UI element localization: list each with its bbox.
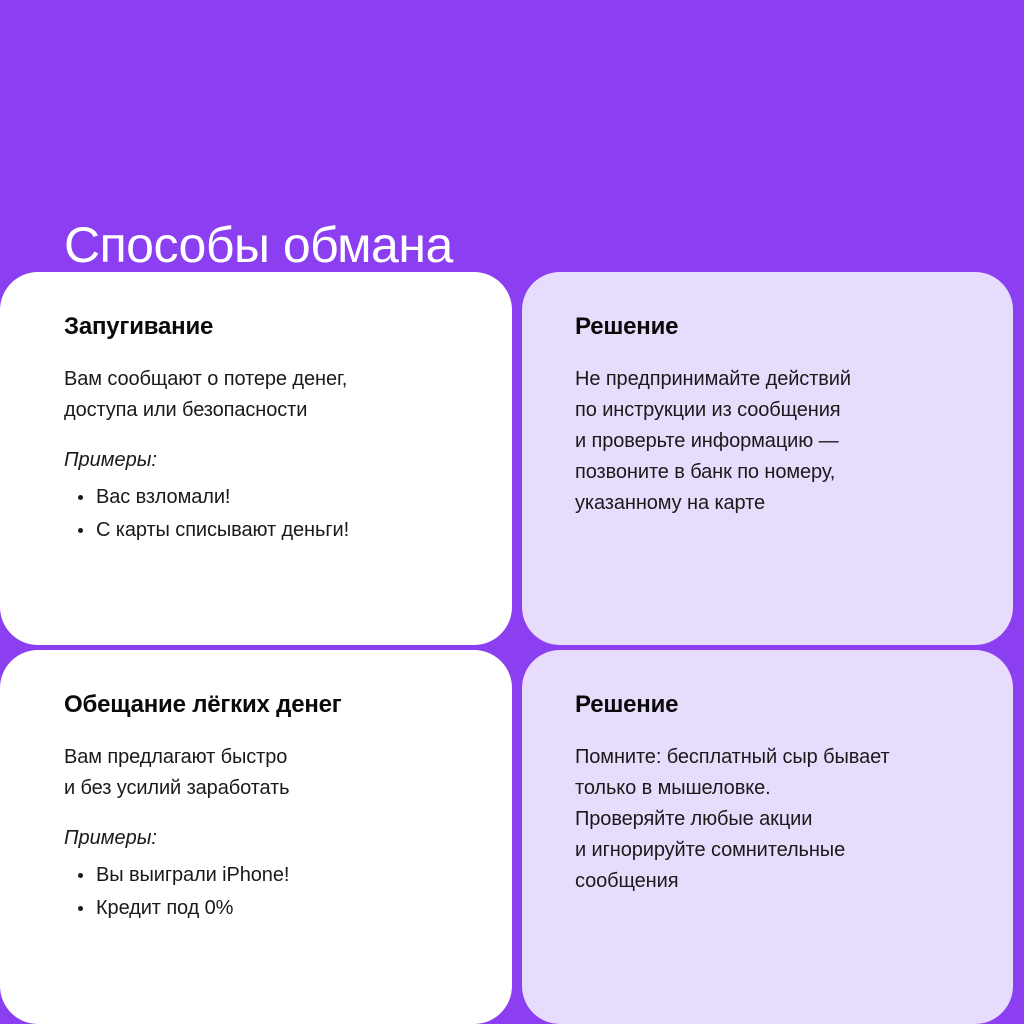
list-item-label: Кредит под 0% bbox=[96, 897, 233, 919]
card-grid: Запугивание Вам сообщают о потере денег,… bbox=[0, 272, 1024, 1024]
card-solution-easy-money-content: Решение Помните: бесплатный сыр бывает т… bbox=[522, 650, 1013, 897]
examples-list: Вас взломали! С карты списывают деньги! bbox=[64, 481, 466, 547]
card-body-line: указанному на карте bbox=[575, 488, 973, 519]
card-body-line: Не предпринимайте действий bbox=[575, 364, 973, 395]
card-heading: Обещание лёгких денег bbox=[64, 690, 466, 720]
card-solution-easy-money: Решение Помните: бесплатный сыр бывает т… bbox=[522, 650, 1013, 1024]
card-body-line: сообщения bbox=[575, 866, 973, 897]
card-body-line: Вам предлагают быстро bbox=[64, 742, 466, 773]
examples-list: Вы выиграли iPhone! Кредит под 0% bbox=[64, 859, 466, 925]
card-heading: Решение bbox=[575, 690, 973, 720]
bullet-dot-icon bbox=[78, 906, 83, 911]
list-item-label: С карты списывают деньги! bbox=[96, 519, 349, 541]
card-scare-tactic: Запугивание Вам сообщают о потере денег,… bbox=[0, 272, 512, 645]
list-item: Кредит под 0% bbox=[64, 892, 466, 925]
card-body-line: и проверьте информацию — bbox=[575, 426, 973, 457]
card-body-line: и без усилий заработать bbox=[64, 773, 466, 804]
card-body: Помните: бесплатный сыр бывает только в … bbox=[575, 742, 973, 897]
card-body-line: Помните: бесплатный сыр бывает bbox=[575, 742, 973, 773]
bullet-dot-icon bbox=[78, 873, 83, 878]
card-body-line: по инструкции из сообщения bbox=[575, 395, 973, 426]
list-item-label: Вас взломали! bbox=[96, 486, 230, 508]
card-body-line: Вам сообщают о потере денег, bbox=[64, 364, 466, 395]
card-easy-money-promise-content: Обещание лёгких денег Вам предлагают быс… bbox=[0, 650, 512, 925]
list-item: Вы выиграли iPhone! bbox=[64, 859, 466, 892]
card-heading: Решение bbox=[575, 312, 973, 342]
list-item-label: Вы выиграли iPhone! bbox=[96, 864, 289, 886]
list-item: Вас взломали! bbox=[64, 481, 466, 514]
card-solution-scare-tactic: Решение Не предпринимайте действий по ин… bbox=[522, 272, 1013, 645]
card-body: Вам предлагают быстро и без усилий зараб… bbox=[64, 742, 466, 804]
card-heading: Запугивание bbox=[64, 312, 466, 342]
card-body-line: позвоните в банк по номеру, bbox=[575, 457, 973, 488]
card-body-line: Проверяйте любые акции bbox=[575, 804, 973, 835]
card-body-line: и игнорируйте сомнительные bbox=[575, 835, 973, 866]
examples-label: Примеры: bbox=[64, 823, 466, 853]
card-solution-scare-tactic-content: Решение Не предпринимайте действий по ин… bbox=[522, 272, 1013, 519]
card-scare-tactic-content: Запугивание Вам сообщают о потере денег,… bbox=[0, 272, 512, 547]
card-body-line: доступа или безопасности bbox=[64, 395, 466, 426]
examples-label: Примеры: bbox=[64, 445, 466, 475]
list-item: С карты списывают деньги! bbox=[64, 514, 466, 547]
card-easy-money-promise: Обещание лёгких денег Вам предлагают быс… bbox=[0, 650, 512, 1024]
card-body: Не предпринимайте действий по инструкции… bbox=[575, 364, 973, 519]
bullet-dot-icon bbox=[78, 495, 83, 500]
card-body-line: только в мышеловке. bbox=[575, 773, 973, 804]
bullet-dot-icon bbox=[78, 528, 83, 533]
card-body: Вам сообщают о потере денег, доступа или… bbox=[64, 364, 466, 426]
